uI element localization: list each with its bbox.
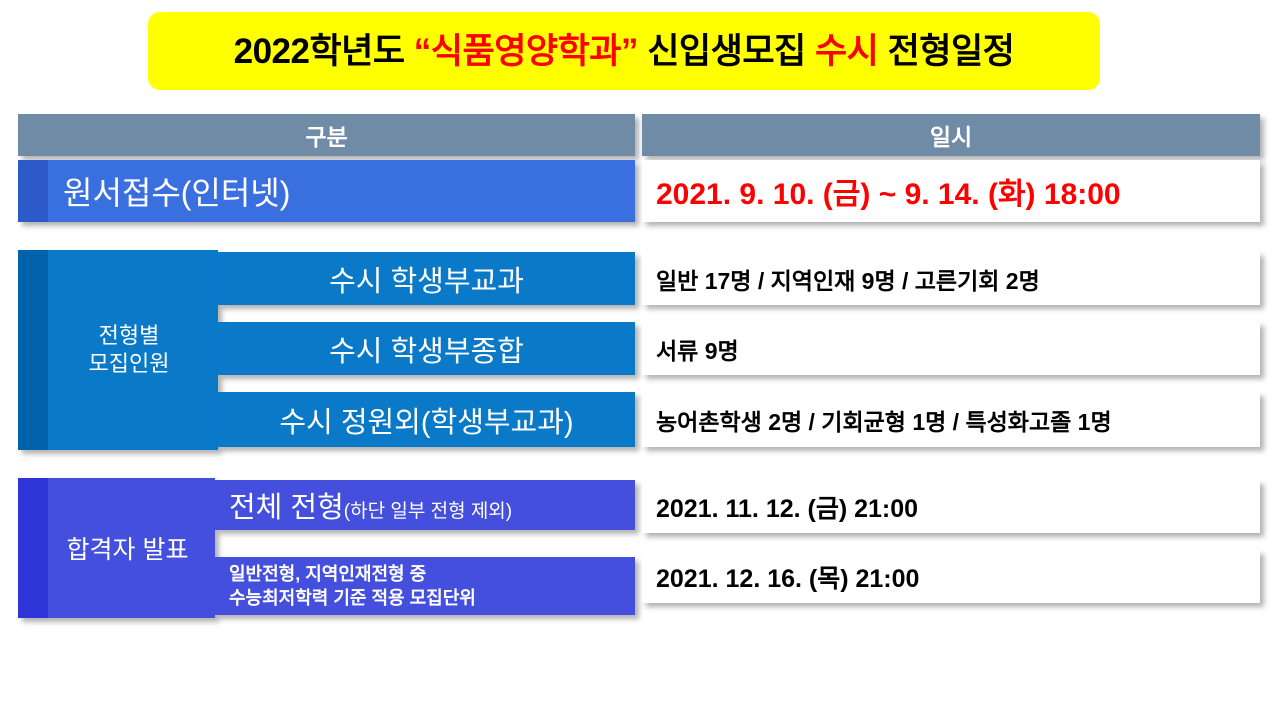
accent-strip (18, 478, 48, 618)
quota-subject-label: 수시 학생부교과 (218, 258, 635, 300)
announcement-all-label: 전체 전형(하단 일부 전형 제외) (215, 484, 512, 526)
row-quota-subject-value: 일반 17명 / 지역인재 9명 / 고른기회 2명 (642, 252, 1260, 305)
announcement-all-main: 전체 전형 (229, 492, 344, 524)
quota-comprehensive-label: 수시 학생부종합 (218, 328, 635, 370)
row-application-value: 2021. 9. 10. (금) ~ 9. 14. (화) 18:00 (642, 160, 1260, 222)
title-suffix: 전형일정 (878, 32, 1014, 71)
announcement-minimum-label: 일반전형, 지역인재전형 중 수능최저학력 기준 적용 모집단위 (215, 562, 476, 611)
announcement-all-note: (하단 일부 전형 제외) (344, 501, 512, 522)
row-announcement-all-category: 전체 전형(하단 일부 전형 제외) (215, 480, 635, 530)
row-quota-subject-category: 수시 학생부교과 (218, 252, 635, 305)
row-quota-comprehensive-category: 수시 학생부종합 (218, 322, 635, 375)
quota-extra-text: 농어촌학생 2명 / 기회균형 1명 / 특성화고졸 1명 (656, 403, 1112, 437)
accent-strip (18, 160, 48, 222)
announcement-all-date-text: 2021. 11. 12. (금) 21:00 (656, 489, 918, 525)
row-application-category: 원서접수(인터넷) (18, 160, 635, 222)
row-quota-comprehensive-value: 서류 9명 (642, 322, 1260, 375)
application-label: 원서접수(인터넷) (18, 168, 290, 214)
page-title: 2022학년도 “식품영양학과” 신입생모집 수시 전형일정 (234, 34, 1015, 69)
title-highlight-department: “식품영양학과” (414, 32, 638, 71)
table-header-datetime: 일시 (642, 114, 1260, 156)
table-header-category: 구분 (18, 114, 635, 156)
row-announcement-minimum-category: 일반전형, 지역인재전형 중 수능최저학력 기준 적용 모집단위 (215, 557, 635, 615)
title-middle: 신입생모집 (638, 32, 815, 71)
row-quota-extra-category: 수시 정원외(학생부교과) (218, 392, 635, 447)
announcement-minimum-date-text: 2021. 12. 16. (목) 21:00 (656, 559, 919, 595)
accent-strip (18, 250, 48, 450)
quota-merged-label: 전형별 모집인원 (18, 322, 218, 378)
announcement-minimum-line-1: 일반전형, 지역인재전형 중 (229, 564, 426, 584)
title-banner: 2022학년도 “식품영양학과” 신입생모집 수시 전형일정 (148, 12, 1100, 90)
row-announcement-merged-category: 합격자 발표 (18, 478, 215, 618)
quota-comprehensive-text: 서류 9명 (656, 332, 739, 366)
title-prefix: 2022학년도 (234, 32, 414, 71)
quota-label-line-1: 전형별 (99, 323, 160, 348)
quota-subject-text: 일반 17명 / 지역인재 9명 / 고른기회 2명 (656, 262, 1040, 296)
header-category-label: 구분 (305, 118, 347, 152)
row-quota-extra-value: 농어촌학생 2명 / 기회균형 1명 / 특성화고졸 1명 (642, 392, 1260, 447)
header-datetime-label: 일시 (930, 118, 972, 152)
quota-extra-label: 수시 정원외(학생부교과) (218, 399, 635, 441)
row-announcement-minimum-value: 2021. 12. 16. (목) 21:00 (642, 550, 1260, 603)
title-highlight-admission-type: 수시 (815, 32, 878, 71)
row-quota-merged-category: 전형별 모집인원 (18, 250, 218, 450)
announcement-minimum-line-2: 수능최저학력 기준 적용 모집단위 (229, 588, 476, 608)
row-announcement-all-value: 2021. 11. 12. (금) 21:00 (642, 480, 1260, 533)
quota-label-line-2: 모집인원 (89, 351, 170, 376)
application-date-text: 2021. 9. 10. (금) ~ 9. 14. (화) 18:00 (656, 169, 1121, 213)
